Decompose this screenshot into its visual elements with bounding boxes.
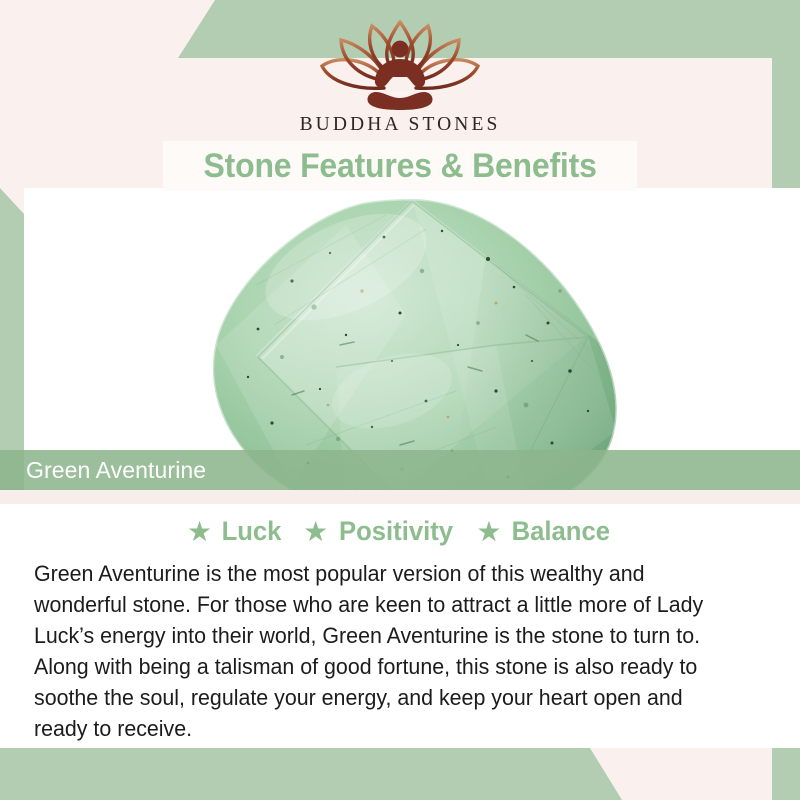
header: BUDDHA STONES (0, 0, 800, 148)
benefit-item-positivity: ★ Positivity (303, 516, 456, 547)
page-title: Stone Features & Benefits (203, 147, 596, 186)
brand-name: BUDDHA STONES (240, 114, 560, 136)
benefits-list: ★ Luck ★ Positivity ★ Balance (0, 516, 800, 547)
benefit-item-balance: ★ Balance (476, 516, 613, 547)
benefit-label: Positivity (339, 516, 453, 547)
poster-root: BUDDHA STONES (0, 0, 800, 800)
brand-logo: BUDDHA STONES (240, 16, 560, 136)
star-icon: ★ (303, 518, 328, 546)
title-banner: Stone Features & Benefits (163, 141, 637, 191)
stone-name-label: Green Aventurine (26, 457, 206, 484)
frame-bottom-bar (0, 748, 800, 800)
divider-strip (0, 490, 800, 504)
star-icon: ★ (187, 518, 212, 546)
star-icon: ★ (476, 518, 501, 546)
benefit-label: Luck (222, 516, 282, 547)
description-text: Green Aventurine is the most popular ver… (34, 558, 741, 744)
benefit-label: Balance (512, 516, 610, 547)
lotus-meditation-icon (310, 16, 490, 112)
benefit-item-luck: ★ Luck (187, 516, 283, 547)
stone-name-bar: Green Aventurine (0, 450, 800, 490)
content-panel: ★ Luck ★ Positivity ★ Balance Green Aven… (0, 504, 800, 748)
